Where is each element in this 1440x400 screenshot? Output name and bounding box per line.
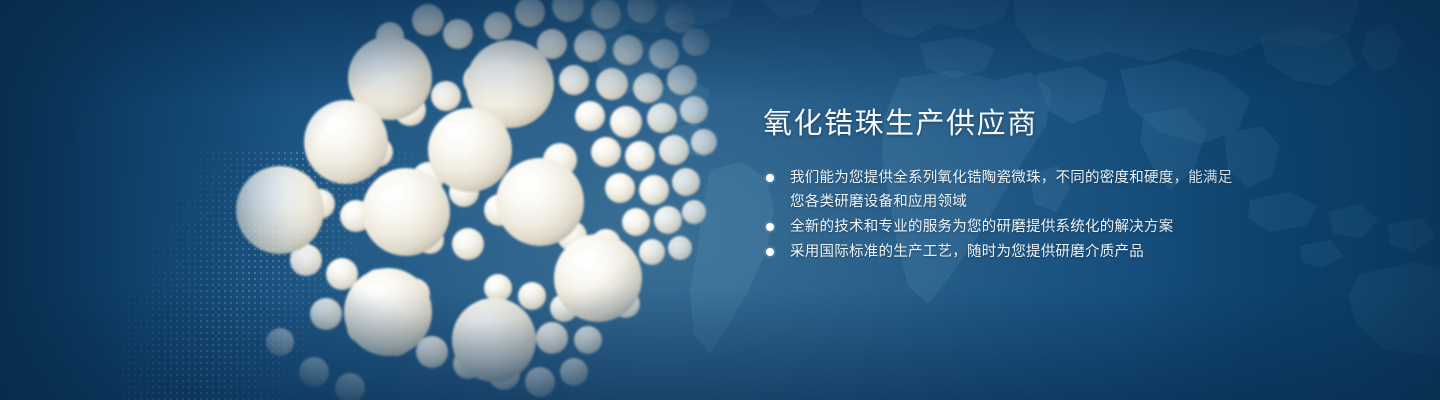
background-vignette <box>0 0 1440 400</box>
hero-banner: 氧化锆珠生产供应商 我们能为您提供全系列氧化锆陶瓷微珠，不同的密度和硬度，能满足… <box>0 0 1440 400</box>
